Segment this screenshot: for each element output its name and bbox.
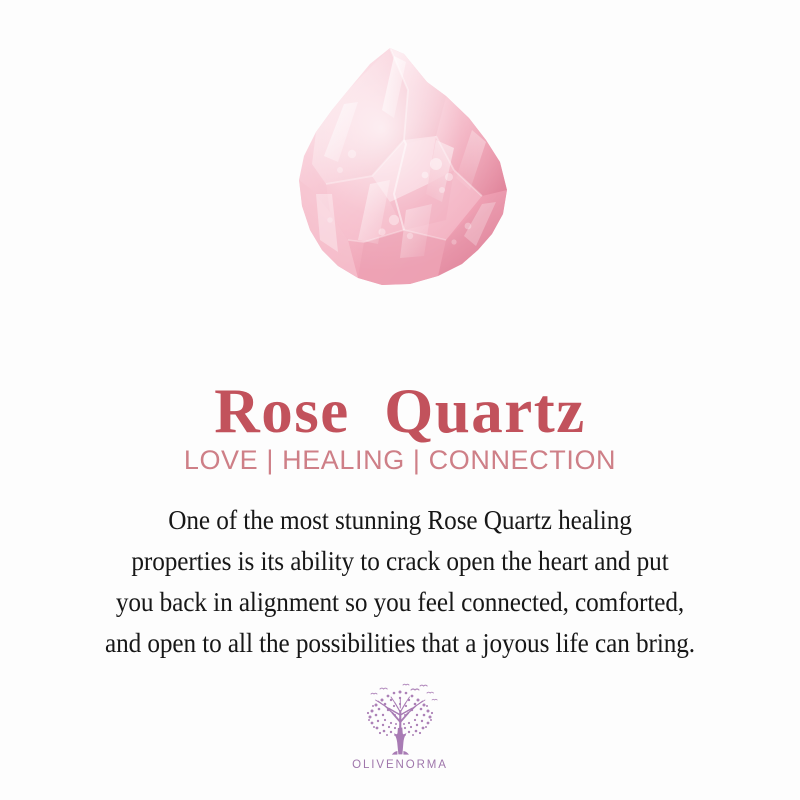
brand-logo: OLIVENORMA <box>0 682 800 771</box>
page-title: Rose Quartz <box>0 378 800 444</box>
description-text: One of the most stunning Rose Quartz hea… <box>0 500 800 664</box>
tree-with-birds-icon <box>358 682 442 756</box>
keyword-subtitle: LOVE | HEALING | CONNECTION <box>0 446 800 476</box>
description-line: One of the most stunning Rose Quartz hea… <box>26 500 774 541</box>
rose-quartz-product-card: Rose Quartz LOVE | HEALING | CONNECTION … <box>0 0 800 800</box>
brand-wordmark: OLIVENORMA <box>352 759 448 771</box>
rose-quartz-crystal-image <box>286 44 514 292</box>
description-line: and open to all the possibilities that a… <box>26 623 774 664</box>
product-image-area <box>0 0 800 310</box>
description-line: you back in alignment so you feel connec… <box>26 582 774 623</box>
description-line: properties is its ability to crack open … <box>26 541 774 582</box>
